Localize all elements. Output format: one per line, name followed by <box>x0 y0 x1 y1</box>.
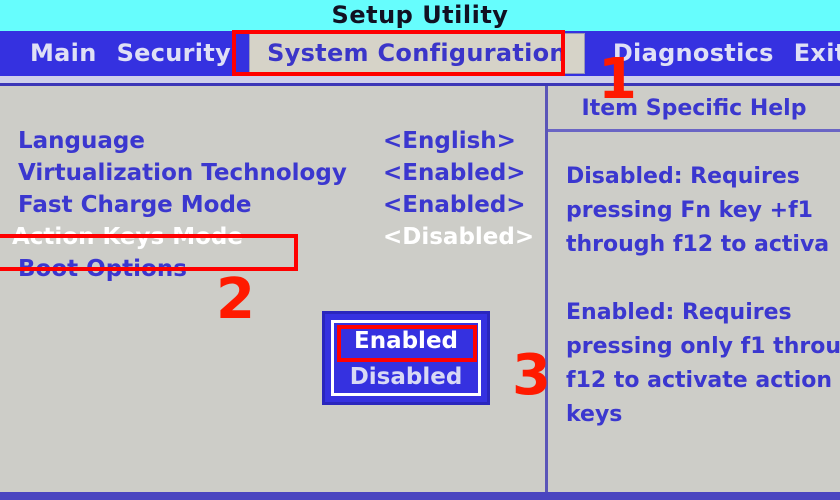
setting-row-boot-options[interactable]: Boot Options <box>0 253 545 285</box>
setting-value-fast-charge-mode[interactable]: <Enabled> <box>383 189 526 221</box>
help-paragraph-enabled: Enabled: Requires pressing only f1 throu… <box>566 296 840 432</box>
setting-row-language[interactable]: Language <English> <box>0 125 545 157</box>
setting-value-language[interactable]: <English> <box>383 125 516 157</box>
help-paragraph-disabled: Disabled: Requires pressing Fn key +f1 t… <box>566 160 840 262</box>
setting-row-action-keys-mode[interactable]: Action Keys Mode <Disabled> <box>0 221 545 253</box>
setting-value-action-keys-mode[interactable]: <Disabled> <box>383 221 534 253</box>
setting-label-action-keys-mode: Action Keys Mode <box>12 221 243 253</box>
bios-setup-utility-screen: Setup Utility Main Security System Confi… <box>0 0 840 500</box>
dropdown-option-enabled[interactable]: Enabled <box>334 323 478 359</box>
menu-bar-items: Main Security System Configuration Diagn… <box>0 31 840 76</box>
setting-label-boot-options: Boot Options <box>18 253 187 285</box>
dropdown-option-disabled[interactable]: Disabled <box>334 359 478 395</box>
dropdown-inner-frame: Enabled Disabled <box>331 320 481 396</box>
page-title: Setup Utility <box>0 0 840 31</box>
setting-label-language: Language <box>18 125 145 157</box>
settings-list: Language <English> Virtualization Techno… <box>0 125 545 285</box>
item-specific-help-body: Disabled: Requires pressing Fn key +f1 t… <box>566 160 840 466</box>
help-title-separator <box>548 129 840 132</box>
item-specific-help-title: Item Specific Help <box>548 96 840 121</box>
bottom-status-bar <box>0 492 840 500</box>
action-keys-mode-dropdown[interactable]: Enabled Disabled <box>322 311 490 405</box>
setting-value-virtualization-technology[interactable]: <Enabled> <box>383 157 526 189</box>
setting-row-virtualization-technology[interactable]: Virtualization Technology <Enabled> <box>0 157 545 189</box>
menu-item-main[interactable]: Main <box>20 31 107 76</box>
menu-item-system-configuration[interactable]: System Configuration <box>249 33 585 74</box>
menu-item-diagnostics[interactable]: Diagnostics <box>603 31 784 76</box>
menu-underline-light <box>0 76 840 83</box>
panel-divider <box>545 86 548 492</box>
setting-label-fast-charge-mode: Fast Charge Mode <box>18 189 252 221</box>
setting-label-virtualization-technology: Virtualization Technology <box>18 157 347 189</box>
menu-item-security[interactable]: Security <box>107 31 241 76</box>
setting-row-fast-charge-mode[interactable]: Fast Charge Mode <Enabled> <box>0 189 545 221</box>
menu-item-exit[interactable]: Exit <box>784 31 840 76</box>
